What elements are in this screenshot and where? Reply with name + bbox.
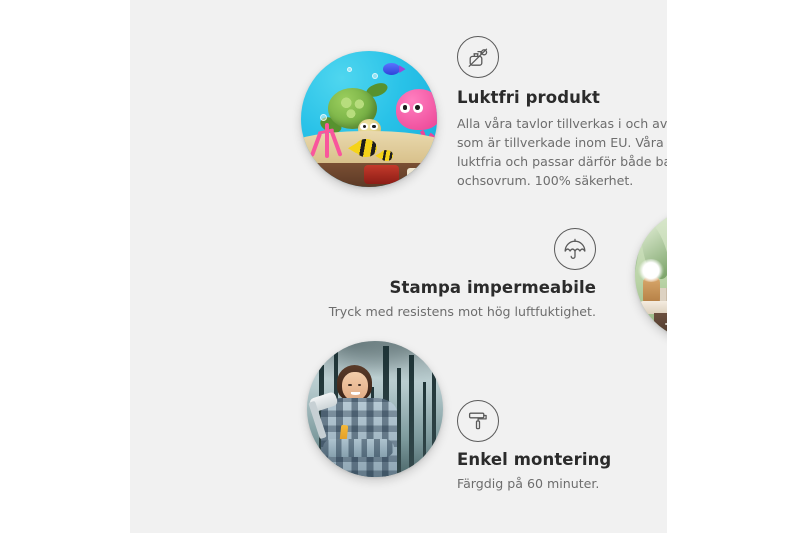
feature-odour-free: Luktfri produkt Alla våra tavlor tillver… <box>457 36 667 190</box>
sea-bottom-strip <box>301 163 437 187</box>
no-fragrance-icon <box>457 36 499 78</box>
promo-graphic: Luktfri produkt Alla våra tavlor tillver… <box>0 0 800 533</box>
photo-bathroom-tropical-wallpaper <box>635 208 667 341</box>
feature-water-title: Stampa impermeabile <box>326 278 596 299</box>
striped-fish-body <box>355 139 377 157</box>
woman-eye-right <box>358 384 362 386</box>
coral-branch <box>329 130 341 156</box>
feature-mount-icon-wrap <box>457 400 667 442</box>
forest-canopy <box>307 341 443 387</box>
content-panel: Luktfri produkt Alla våra tavlor tillver… <box>130 0 667 533</box>
woman-face <box>342 372 368 401</box>
bubble <box>320 114 327 121</box>
coral <box>309 122 344 160</box>
woman-artwork <box>307 341 443 477</box>
feature-mount-body: Färgdig på 60 minuter. <box>457 474 667 493</box>
wooden-vanity <box>654 313 667 341</box>
woman-smile <box>351 392 360 395</box>
turtle-eye-right <box>370 123 378 131</box>
photo-underwater-scene <box>301 51 437 187</box>
bubble <box>372 73 378 79</box>
photo-woman-with-paint-roller <box>307 341 443 477</box>
paint-roller-icon <box>457 400 499 442</box>
turtle-eye-left <box>360 123 368 131</box>
woman-eye-left <box>348 384 352 386</box>
feature-odour-title: Luktfri produkt <box>457 88 667 109</box>
octopus-eye-left <box>400 103 410 113</box>
striped-fish <box>355 139 377 157</box>
blue-fish-body <box>383 63 401 75</box>
feature-waterproof-print: Stampa impermeabile Tryck med resistens … <box>326 228 596 321</box>
feature-odour-body: Alla våra tavlor tillverkas i och av pro… <box>457 114 667 191</box>
bathroom-artwork <box>635 208 667 341</box>
octopus-eye-right <box>413 103 423 113</box>
feature-easy-mounting: Enkel montering Färgdig på 60 minuter. <box>457 400 667 493</box>
feature-water-icon-wrap <box>326 228 596 278</box>
feature-odour-icon-wrap <box>457 36 667 78</box>
feature-water-body: Tryck med resistens mot hög luftfuktighe… <box>326 302 596 321</box>
striped-fish-small <box>380 150 394 161</box>
blue-fish <box>383 63 401 75</box>
striped-fish-body <box>380 150 394 161</box>
underwater-artwork <box>301 51 437 187</box>
feature-mount-title: Enkel montering <box>457 450 667 471</box>
woman-plaid-shirt <box>321 398 397 477</box>
tree-trunk <box>423 382 426 477</box>
woman-crossed-arms <box>323 439 394 457</box>
umbrella-icon <box>554 228 596 270</box>
coral-branch <box>310 132 322 157</box>
